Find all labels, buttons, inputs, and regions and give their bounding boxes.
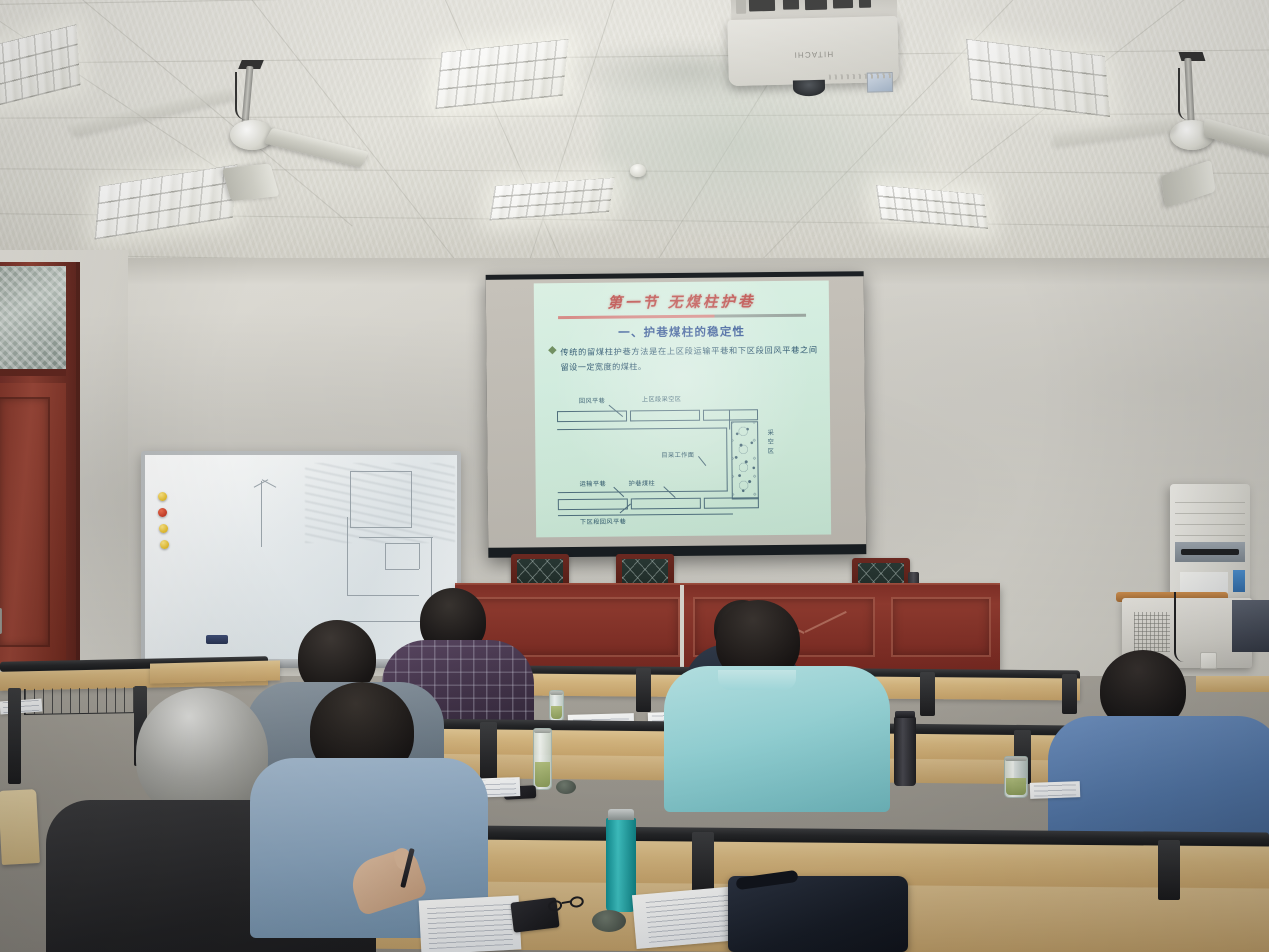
mining-layout-diagram: 回风平巷 上区段采空区 目采工作面 运输平巷 护巷煤柱 下区段回风平巷 采空区 (557, 385, 810, 525)
door-transom-window (0, 266, 66, 376)
ac-air-slats (1175, 492, 1245, 536)
paper-text-lines (427, 901, 513, 949)
side-desk (1196, 676, 1269, 692)
power-cable (1174, 592, 1188, 662)
roadway-box (703, 409, 758, 421)
whiteboard-sketch-line (359, 537, 433, 538)
whiteboard-sketch-line (385, 569, 419, 570)
fan-blade (1161, 160, 1216, 208)
whiteboard-sketch-line (411, 471, 412, 527)
black-thermos[interactable] (894, 716, 916, 786)
diagram-line (729, 409, 730, 429)
whiteboard-sketch-line (350, 471, 412, 472)
thermos-lid (608, 809, 634, 820)
desk-surface (150, 660, 280, 683)
fan-wire (1178, 68, 1188, 120)
desk-support-bracket (1062, 674, 1077, 714)
diagram-label-coal-pillar: 护巷煤柱 (629, 478, 655, 487)
ac-vent (1175, 542, 1245, 562)
student-head (136, 688, 268, 818)
slide-subtitle: 一、护巷煤柱的稳定性 (534, 323, 829, 342)
fan-blade (222, 163, 280, 201)
roadway-box (631, 498, 701, 510)
wall-outlet[interactable] (1200, 652, 1217, 669)
diagram-label-upper-goaf: 上区段采空区 (642, 394, 682, 403)
whiteboard-eraser[interactable] (206, 635, 228, 644)
glass-tea-thermos[interactable] (533, 728, 552, 790)
thermos-lid (534, 728, 551, 733)
thermos-lid-cap[interactable] (592, 910, 626, 932)
diagram-line (558, 491, 728, 494)
thermos-lid (895, 711, 915, 718)
diagram-label-lower-return-airway: 下区段回风平巷 (580, 516, 626, 525)
whiteboard-sketch-line (350, 527, 412, 528)
whiteboard-magnet[interactable] (158, 492, 167, 501)
whiteboard-magnet[interactable] (159, 524, 168, 533)
diagram-label-goaf-vertical: 采空区 (765, 429, 774, 457)
thermos-lid (1005, 756, 1027, 761)
glass-tea-thermos[interactable] (1004, 756, 1028, 798)
desk-support-bracket (920, 672, 935, 716)
tea-leaves (551, 706, 562, 719)
fan-blade (1053, 115, 1178, 146)
tea-leaves (535, 762, 550, 787)
door-handle[interactable] (0, 608, 2, 634)
roadway-box (630, 410, 700, 422)
diagram-label-working-face: 目采工作面 (661, 450, 694, 459)
goaf-caved-zone (731, 421, 759, 499)
diagram-leader-line (663, 486, 675, 498)
classroom-scene: HITACHI 第一节 无煤柱护巷 一、护巷煤柱的稳定性 传统的留煤柱护巷方法是… (0, 0, 1269, 952)
presentation-slide: 第一节 无煤柱护巷 一、护巷煤柱的稳定性 传统的留煤柱护巷方法是在上区段运输平巷… (534, 281, 831, 538)
handout-papers[interactable] (419, 895, 522, 952)
whiteboard-magnet[interactable] (160, 540, 169, 549)
slide-title: 第一节 无煤柱护巷 (534, 290, 829, 314)
fan-blade (1203, 118, 1269, 165)
dais-divider (680, 585, 684, 671)
ac-vent-slot (1181, 549, 1239, 555)
desk-support-bracket (8, 688, 21, 784)
smoke-detector (630, 164, 646, 177)
diagram-line (557, 428, 727, 431)
screen-surface: 第一节 无煤柱护巷 一、护巷煤柱的稳定性 传统的留煤柱护巷方法是在上区段运输平巷… (486, 276, 867, 548)
diamond-bullet-icon (548, 346, 556, 354)
whiteboard-sketch-line (350, 471, 351, 527)
diagram-line (726, 428, 728, 492)
chair-backrest[interactable] (0, 789, 40, 865)
desk-support-bracket (480, 722, 497, 780)
glass-tea-thermos[interactable] (549, 690, 564, 722)
ceiling-projector: HITACHI (721, 0, 903, 96)
side-monitor (1232, 600, 1269, 652)
whiteboard-erased-marks (305, 463, 455, 543)
whiteboard-sketch-line (385, 543, 419, 544)
whiteboard[interactable] (141, 451, 461, 663)
desk-support-bracket (636, 668, 651, 712)
whiteboard-magnet[interactable] (158, 508, 167, 517)
console-speaker-grill (1134, 612, 1170, 652)
ceiling-fan (1060, 52, 1269, 202)
diagram-line (558, 513, 733, 516)
whiteboard-sketch-line (343, 621, 431, 622)
projection-screen: 第一节 无煤柱护巷 一、护巷煤柱的稳定性 传统的留煤柱护巷方法是在上区段运输平巷… (486, 271, 867, 558)
slide-title-underline (558, 314, 806, 319)
whiteboard-sketch-line (385, 543, 386, 569)
whiteboard-sketch-line (261, 481, 262, 547)
roadway-box (558, 498, 628, 510)
slide-bullet-item: 传统的留煤柱护巷方法是在上区段运输平巷和下区段回风平巷之间留设一定宽度的煤柱。 (549, 343, 817, 376)
diagram-label-return-airway: 回风平巷 (579, 396, 605, 405)
ceiling-fan (180, 60, 410, 200)
classroom-door[interactable] (0, 383, 66, 683)
polo-collar (718, 670, 796, 690)
thermos-lid (550, 690, 563, 695)
desk-support-bracket (1158, 840, 1180, 900)
diagram-leader-line (698, 456, 706, 466)
projector-brand-label: HITACHI (728, 48, 898, 61)
fan-blade (264, 128, 369, 168)
fan-wire (235, 72, 246, 120)
handout-papers[interactable] (1030, 781, 1081, 799)
thermos-lid-cap[interactable] (556, 780, 576, 794)
dais-panel (891, 597, 991, 657)
whiteboard-sketch-line (347, 517, 348, 595)
whiteboard-sketch-line (419, 543, 420, 569)
whiteboard-sketch-line (347, 595, 419, 596)
slide-bullet-text: 传统的留煤柱护巷方法是在上区段运输平巷和下区段回风平巷之间留设一定宽度的煤柱。 (560, 343, 817, 376)
paper-text-lines (1034, 783, 1076, 797)
fan-ceiling-mount (1179, 52, 1206, 61)
diagram-label-haulage-roadway: 运输平巷 (580, 479, 606, 488)
tea-leaves (1006, 778, 1026, 795)
door-panel (0, 397, 50, 647)
ac-energy-tag (1233, 570, 1245, 592)
projector-body: HITACHI (727, 16, 899, 86)
